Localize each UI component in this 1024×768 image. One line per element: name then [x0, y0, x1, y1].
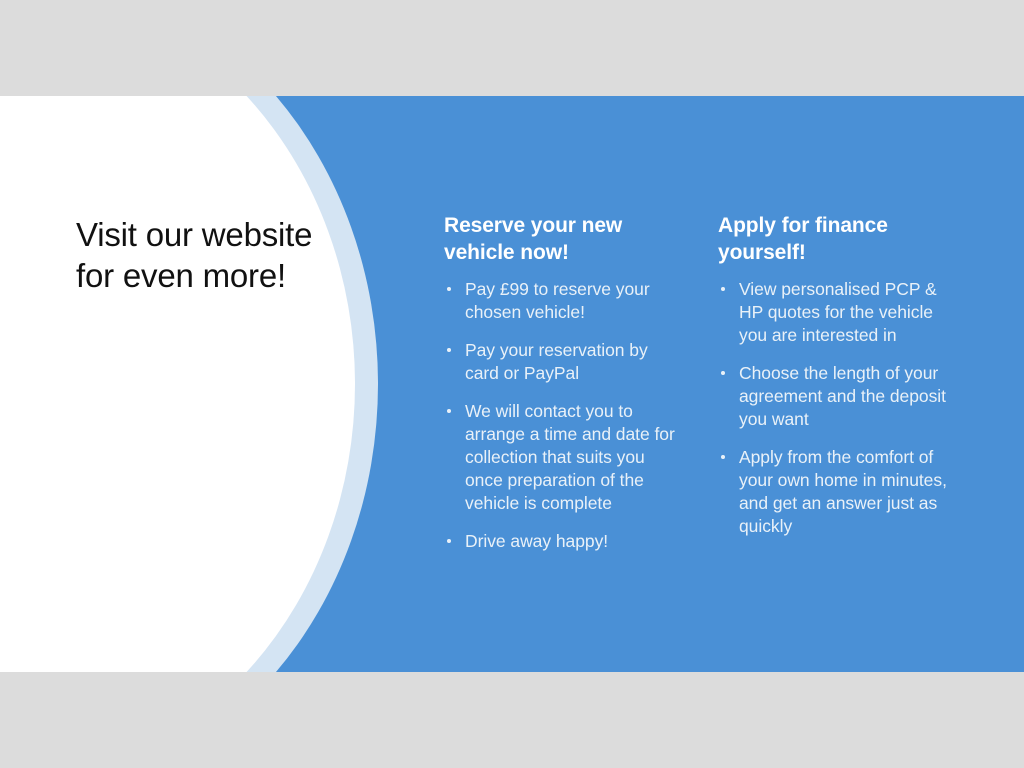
list-item-text: Apply from the comfort of your own home …	[739, 447, 947, 536]
letterbox-bar-top	[0, 0, 1024, 96]
list-item-text: Drive away happy!	[465, 531, 608, 551]
list-item: Pay £99 to reserve your chosen vehicle!	[444, 278, 686, 324]
letterbox-bar-bottom	[0, 672, 1024, 768]
bullet-dot-icon	[447, 348, 451, 352]
bullet-dot-icon	[721, 371, 725, 375]
slide-frame: Visit our website for even more! Reserve…	[0, 0, 1024, 768]
list-item-text: View personalised PCP & HP quotes for th…	[739, 279, 937, 345]
list-item-text: Pay £99 to reserve your chosen vehicle!	[465, 279, 650, 322]
column-reserve-heading: Reserve your new vehicle now!	[444, 212, 686, 266]
list-item: Apply from the comfort of your own home …	[718, 446, 963, 538]
bullet-dot-icon	[447, 287, 451, 291]
column-finance-heading: Apply for finance yourself!	[718, 212, 963, 266]
list-item: We will contact you to arrange a time an…	[444, 400, 686, 515]
list-item: View personalised PCP & HP quotes for th…	[718, 278, 963, 347]
list-item: Choose the length of your agreement and …	[718, 362, 963, 431]
list-item: Pay your reservation by card or PayPal	[444, 339, 686, 385]
column-finance: Apply for finance yourself! View persona…	[718, 212, 963, 538]
left-headline-panel: Visit our website for even more!	[76, 214, 326, 296]
bullet-dot-icon	[721, 287, 725, 291]
decorative-white-ellipse	[0, 96, 355, 672]
bullet-dot-icon	[447, 409, 451, 413]
list-item-text: Choose the length of your agreement and …	[739, 363, 946, 429]
column-finance-bullet-list: View personalised PCP & HP quotes for th…	[718, 278, 963, 538]
list-item: Drive away happy!	[444, 530, 686, 553]
bullet-dot-icon	[447, 539, 451, 543]
list-item-text: Pay your reservation by card or PayPal	[465, 340, 648, 383]
bullet-dot-icon	[721, 455, 725, 459]
column-reserve: Reserve your new vehicle now! Pay £99 to…	[444, 212, 686, 553]
page-title: Visit our website for even more!	[76, 214, 326, 296]
list-item-text: We will contact you to arrange a time an…	[465, 401, 675, 513]
slide-canvas: Visit our website for even more! Reserve…	[0, 96, 1024, 672]
column-reserve-bullet-list: Pay £99 to reserve your chosen vehicle! …	[444, 278, 686, 553]
